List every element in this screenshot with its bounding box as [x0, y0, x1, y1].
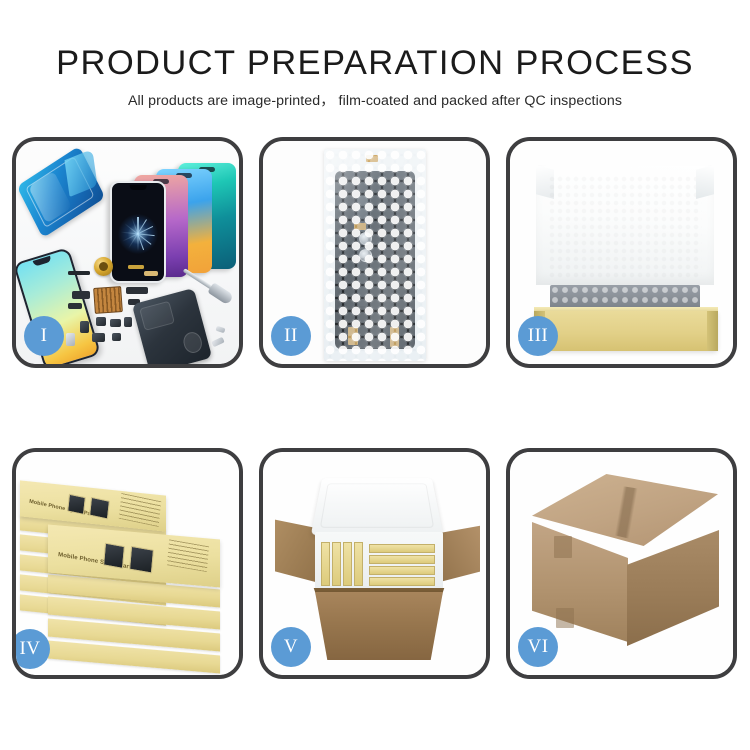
chip-part-3 — [124, 317, 132, 327]
display-lineup — [102, 157, 238, 285]
flex-cable-2 — [68, 303, 82, 309]
packed-box-6 — [369, 555, 435, 564]
panel-bubble-wrapped-part[interactable]: II — [259, 137, 490, 368]
process-step-grid: I II — [12, 137, 739, 737]
packed-box-2 — [332, 542, 341, 586]
bag-gloss — [324, 149, 426, 361]
gold-flex-part — [128, 265, 144, 269]
step-badge-2: II — [271, 316, 311, 356]
product-preparation-infographic: PRODUCT PREPARATION PROCESS All products… — [0, 0, 750, 750]
packed-box-3 — [343, 542, 352, 586]
foam-texture — [548, 175, 702, 279]
panel-foam-lined-box[interactable]: III — [506, 137, 737, 368]
chip-part-1 — [96, 317, 106, 326]
box-text-block-rear — [119, 493, 161, 527]
metal-bracket-part — [66, 333, 75, 346]
packed-box-5 — [369, 544, 435, 553]
panel-4-image: Mobile Phone Spare Parts Mobile Phone Sp… — [16, 452, 239, 675]
chip-part-4 — [80, 321, 89, 333]
page-title: PRODUCT PREPARATION PROCESS — [0, 44, 750, 83]
header: PRODUCT PREPARATION PROCESS All products… — [0, 0, 750, 128]
step-badge-5: V — [271, 627, 311, 667]
coil-part — [94, 257, 113, 276]
box-window-rear-2 — [89, 497, 110, 520]
foam-pad — [536, 165, 714, 285]
box-window-rear-1 — [67, 494, 86, 515]
box-stack: Mobile Phone Spare Parts Mobile Phone Sp… — [18, 470, 239, 670]
copper-mesh-part — [93, 286, 123, 314]
flex-cable-3 — [126, 287, 148, 294]
carton-tape-lower — [556, 608, 574, 628]
carton-tape-upper — [554, 536, 572, 558]
foam-liner — [315, 532, 443, 596]
bubble-wrap-bag — [324, 149, 426, 361]
panel-screens-and-parts[interactable]: I — [12, 137, 243, 368]
step-badge-6: VI — [518, 627, 558, 667]
box-label-rear: Mobile Phone Spare Parts — [29, 499, 98, 519]
chip-part-5 — [92, 333, 105, 342]
step-badge-1: I — [24, 316, 64, 356]
chip-part-6 — [112, 333, 121, 341]
speaker-bar-part — [68, 271, 90, 275]
packed-box-7 — [369, 566, 435, 575]
kraft-box-front — [534, 311, 718, 351]
box-window-front-2 — [129, 546, 154, 574]
packed-box-4 — [354, 542, 363, 586]
flex-cable-1 — [72, 291, 90, 299]
packed-box-1 — [321, 542, 330, 586]
page-subtitle: All products are image-printed， film-coa… — [0, 90, 750, 110]
panel-sealed-carton[interactable]: VI — [506, 448, 737, 679]
step-badge-3: III — [518, 316, 558, 356]
chip-part-2 — [110, 319, 121, 327]
foam-lid — [311, 478, 443, 535]
tan-flex-part — [144, 271, 158, 276]
panel-open-shipping-carton[interactable]: V — [259, 448, 490, 679]
box-window-front-1 — [103, 543, 125, 569]
carton-body — [311, 592, 447, 660]
panel-stacked-retail-boxes[interactable]: Mobile Phone Spare Parts Mobile Phone Sp… — [12, 448, 243, 679]
packed-box-8 — [369, 577, 435, 586]
box-text-block-front — [167, 539, 209, 572]
